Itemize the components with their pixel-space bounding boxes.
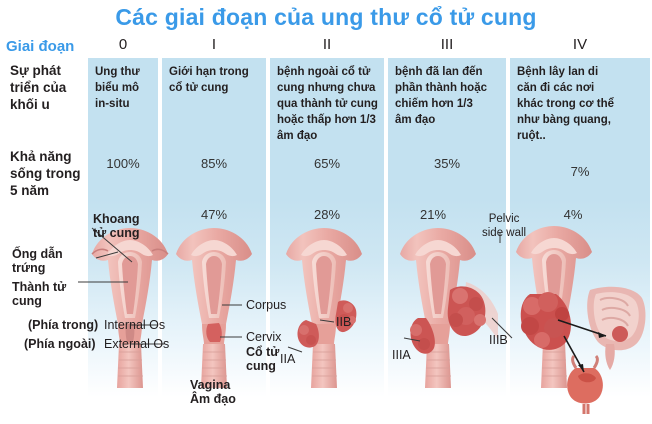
stage-numeral-1: I	[162, 36, 266, 53]
label-pelvic-side-wall: Pelvic side wall	[482, 212, 526, 240]
stage-panel-1: Giới hạn trong cổ tử cung 85%	[162, 58, 266, 200]
stage-0-description: Ung thư biểu mô in-situ	[95, 64, 152, 112]
uterus-illustration-stage-4	[512, 218, 652, 418]
uterus-body	[92, 228, 168, 324]
stage-1-description: Giới hạn trong cổ tử cung	[169, 64, 260, 96]
uterus-illustration-stage-0	[88, 220, 172, 406]
label-stage-3a: IIIA	[392, 348, 411, 362]
stage-1-survival: 85%	[162, 156, 266, 171]
stage-numeral-0: 0	[88, 36, 158, 53]
label-uterine-wall: Thành tử cung	[12, 280, 66, 308]
label-external-os: External Os	[104, 337, 169, 351]
label-stage-2b: IIB	[336, 315, 351, 329]
label-uterine-cavity: Khoang tử cung	[93, 212, 140, 240]
stage-panel-4: Bệnh lây lan di căn đi các nơi khác tron…	[510, 58, 650, 200]
uterus-illustration-stage-3	[396, 220, 502, 406]
label-stage-3b: IIIB	[489, 333, 508, 347]
uterus-body	[176, 228, 252, 324]
stage-2-survival: 65%	[270, 156, 384, 171]
uterus-illustration-stage-2	[282, 220, 378, 406]
page-title: Các giai đoạn của ung thư cổ tử cung	[0, 4, 652, 31]
survival-row-label: Khả năng sống trong 5 năm	[10, 148, 90, 199]
stage-numeral-4: IV	[510, 36, 650, 53]
bladder-organ	[567, 356, 603, 414]
tumor-stage-2a	[297, 320, 318, 348]
tumor-stage-1	[206, 323, 222, 342]
stage-3-description: bệnh đã lan đến phần thành hoặc chiếm hơ…	[395, 64, 500, 128]
label-cervix-vn: Cổ tử cung	[246, 345, 279, 373]
cervix-vagina	[117, 324, 143, 388]
label-cervix: Cervix	[246, 330, 281, 344]
label-vagina: Vagina	[190, 378, 230, 392]
diagram-root: Các giai đoạn của ung thư cổ tử cung Gia…	[0, 0, 652, 424]
label-vagina-vn: Âm đạo	[190, 392, 236, 406]
stage-numeral-3: III	[388, 36, 506, 53]
stage-panel-3: bệnh đã lan đến phần thành hoặc chiếm hơ…	[388, 58, 506, 200]
stage-3-survival: 35%	[388, 156, 506, 171]
label-stage-2a: IIA	[280, 352, 295, 366]
label-fallopian-tube: Ống dẫn trứng	[12, 247, 63, 275]
stage-numeral-2: II	[270, 36, 384, 53]
stage-2-description: bệnh ngoài cổ tử cung nhưng chưa qua thà…	[277, 64, 378, 144]
label-corpus: Corpus	[246, 298, 286, 312]
stage-panel-0: Ung thư biểu mô in-situ 100%	[88, 58, 158, 200]
label-internal-os-vn: (Phía trong)	[28, 318, 98, 332]
stage-row-label: Giai đoạn	[6, 38, 74, 55]
stage-4-survival: 7%	[510, 164, 650, 179]
stage-4-description: Bệnh lây lan di căn đi các nơi khác tron…	[517, 64, 644, 144]
stage-panel-2: bệnh ngoài cổ tử cung nhưng chưa qua thà…	[270, 58, 384, 200]
stage-0-survival: 100%	[88, 156, 158, 171]
tumor-growth-row-label: Sự phát triển của khối u	[10, 62, 90, 113]
label-external-os-vn: (Phía ngoài)	[24, 337, 96, 351]
label-internal-os: Internal Os	[104, 318, 165, 332]
